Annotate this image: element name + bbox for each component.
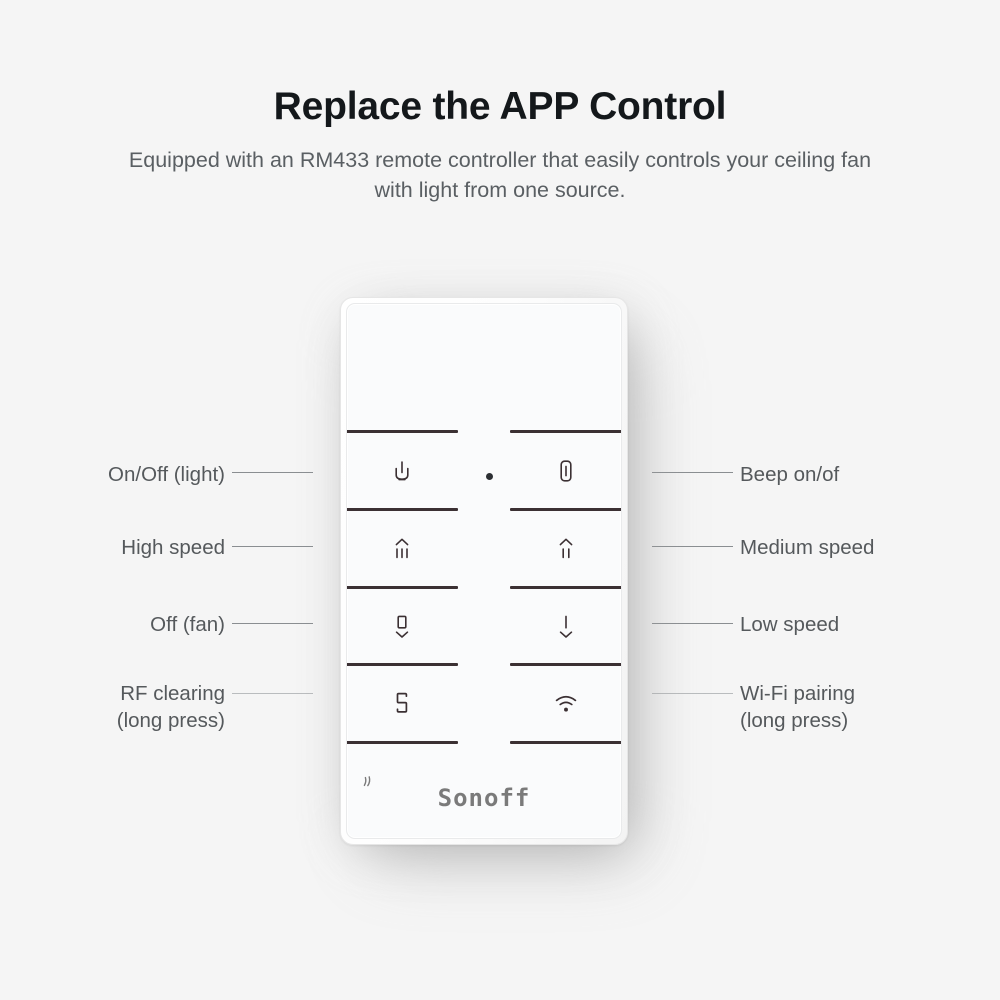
callout-label-medium-speed: Medium speed [740, 534, 874, 561]
rm433-remote-controller: Sonoff [338, 295, 630, 847]
lead-line-beep-on-off [652, 472, 733, 473]
lead-line-fan-off [232, 623, 313, 624]
button-rf-clearing[interactable] [346, 665, 458, 742]
button-high-speed[interactable] [346, 510, 458, 587]
callout-label-fan-off: Off (fan) [150, 611, 225, 638]
header-block: Replace the APP Control Equipped with an… [0, 86, 1000, 206]
button-low-speed[interactable] [510, 588, 622, 665]
sonoff-logo-text: Sonoff [438, 786, 531, 810]
sonoff-brand-logo: Sonoff [347, 786, 621, 810]
page-title: Replace the APP Control [0, 86, 1000, 129]
button-light-on-off[interactable] [346, 432, 458, 509]
fan-low-speed-icon [556, 614, 576, 640]
light-bulb-icon [393, 459, 411, 483]
fan-high-speed-icon [391, 536, 413, 561]
callout-label-beep-on-off: Beep on/of [740, 461, 839, 488]
lead-line-high-speed [232, 546, 313, 547]
fan-medium-speed-icon [556, 536, 576, 561]
infographic-canvas: Replace the APP Control Equipped with an… [0, 0, 1000, 1000]
lead-line-rf-clearing [232, 693, 313, 694]
fan-off-icon [392, 614, 412, 640]
beep-speaker-icon [559, 459, 573, 483]
callout-label-light-on-off: On/Off (light) [108, 461, 225, 488]
callout-label-wifi-pairing: Wi-Fi pairing (long press) [740, 680, 855, 735]
lead-line-medium-speed [652, 546, 733, 547]
led-indicator-dot [486, 473, 493, 480]
rf-signal-icon [394, 692, 410, 716]
callout-label-low-speed: Low speed [740, 611, 839, 638]
button-beep-on-off[interactable] [510, 432, 622, 509]
page-subtitle: Equipped with an RM433 remote controller… [110, 145, 890, 206]
remote-face-panel: Sonoff [346, 303, 622, 839]
callout-label-rf-clearing: RF clearing (long press) [117, 680, 225, 735]
remote-body: Sonoff [340, 297, 628, 845]
lead-line-wifi-pairing [652, 693, 733, 694]
callout-label-high-speed: High speed [121, 534, 225, 561]
button-medium-speed[interactable] [510, 510, 622, 587]
button-fan-off[interactable] [346, 588, 458, 665]
wifi-icon [554, 695, 578, 713]
lead-line-low-speed [652, 623, 733, 624]
lead-line-light-on-off [232, 472, 313, 473]
button-wifi-pairing[interactable] [510, 665, 622, 742]
signal-waves-icon [362, 775, 375, 793]
